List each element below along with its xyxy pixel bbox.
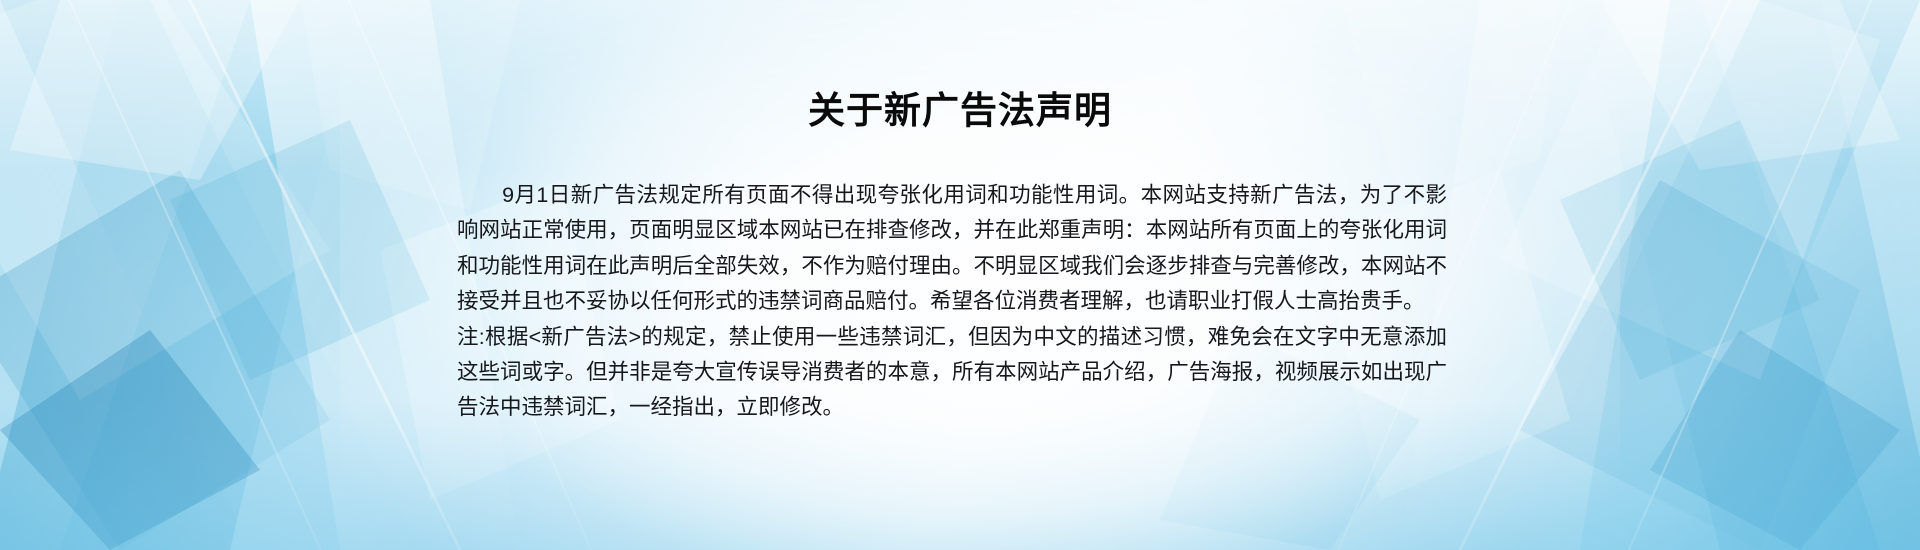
statement-content: 关于新广告法声明 9月1日新广告法规定所有页面不得出现夸张化用词和功能性用词。本… bbox=[0, 0, 1920, 550]
statement-paragraph-main: 9月1日新广告法规定所有页面不得出现夸张化用词和功能性用词。本网站支持新广告法，… bbox=[457, 178, 1447, 320]
statement-body: 9月1日新广告法规定所有页面不得出现夸张化用词和功能性用词。本网站支持新广告法，… bbox=[457, 178, 1447, 426]
advertising-law-statement-banner: 关于新广告法声明 9月1日新广告法规定所有页面不得出现夸张化用词和功能性用词。本… bbox=[0, 0, 1920, 550]
page-title: 关于新广告法声明 bbox=[0, 88, 1920, 134]
statement-paragraph-note: 注:根据<新广告法>的规定，禁止使用一些违禁词汇，但因为中文的描述习惯，难免会在… bbox=[457, 320, 1447, 426]
